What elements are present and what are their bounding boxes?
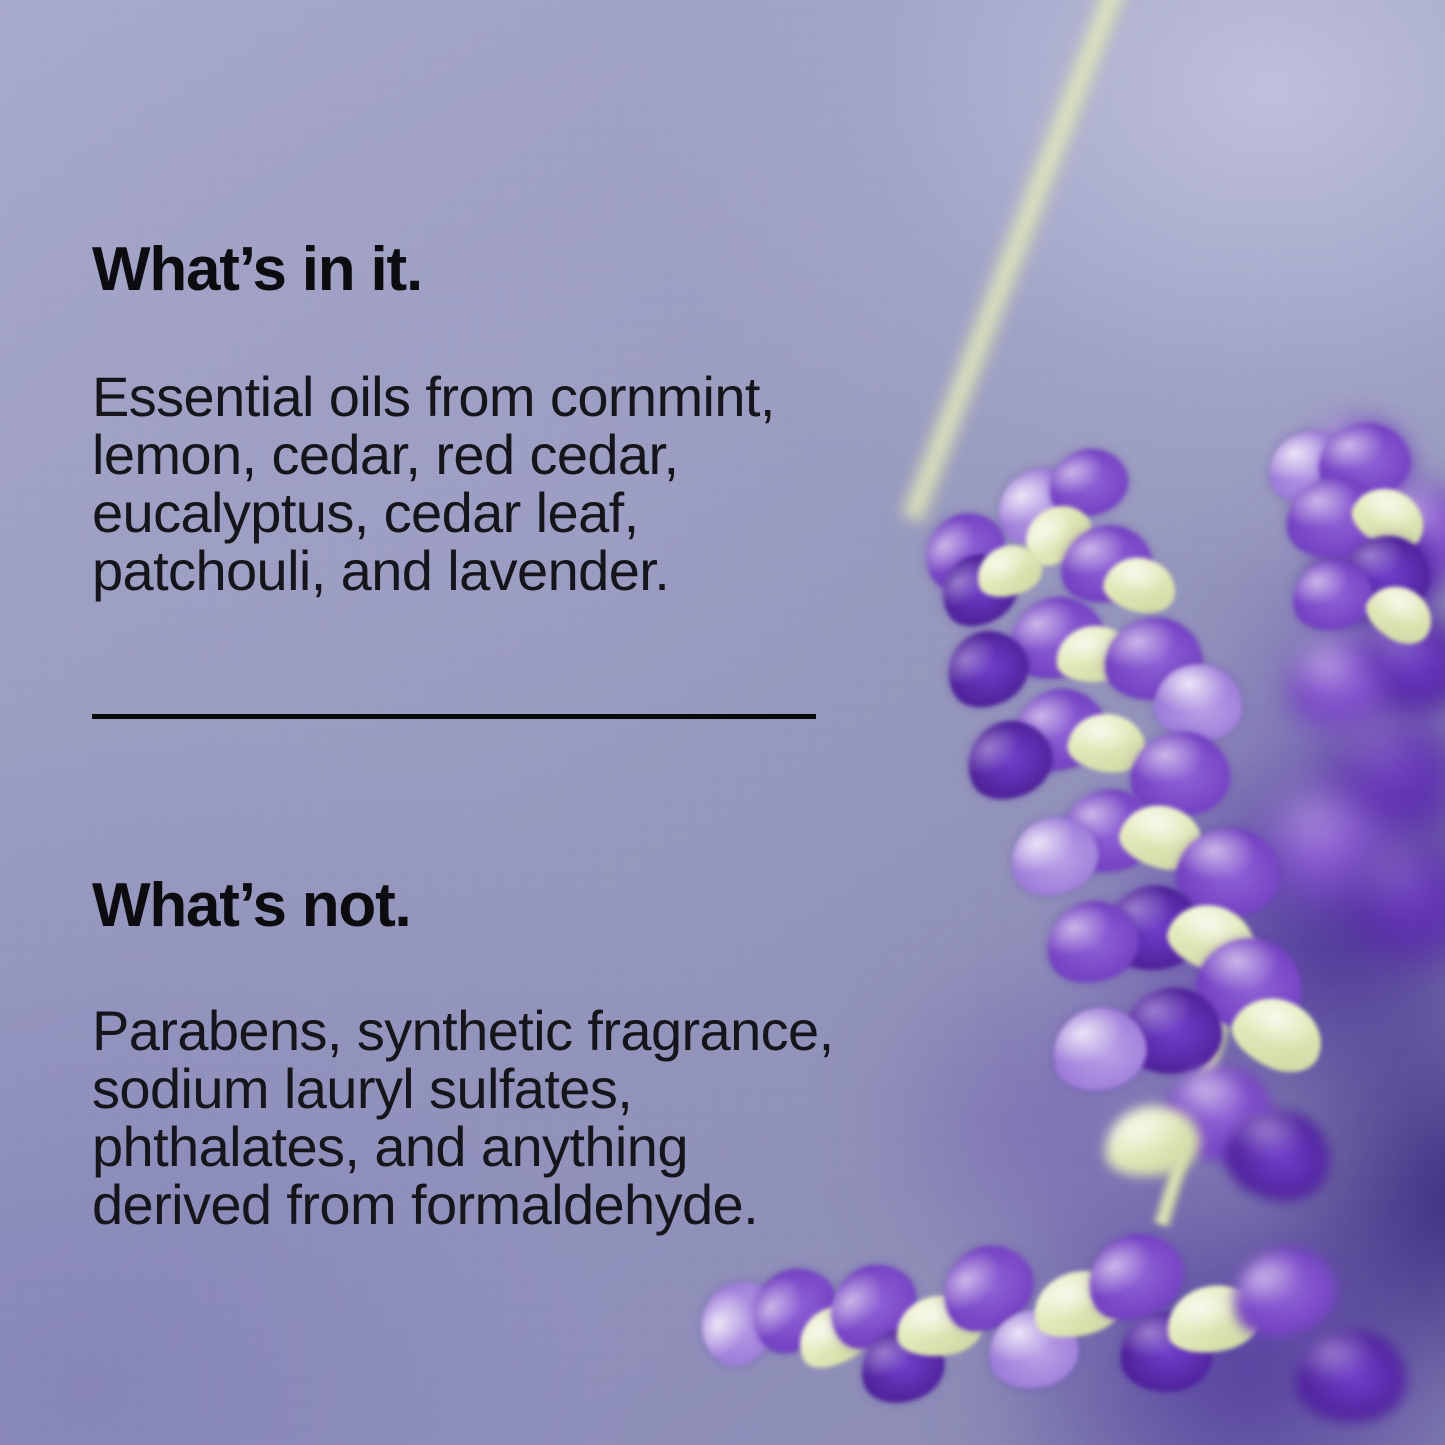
text-content: What’s in it. Essential oils from cornmi… <box>92 0 1052 1445</box>
whats-in-it-body: Essential oils from cornmint, lemon, ced… <box>92 368 775 600</box>
whats-in-it-heading: What’s in it. <box>92 239 422 301</box>
ingredient-panel-image: What’s in it. Essential oils from cornmi… <box>0 0 1445 1445</box>
whats-not-heading: What’s not. <box>92 875 411 937</box>
section-divider <box>92 714 816 719</box>
whats-not-body: Parabens, synthetic fragrance, sodium la… <box>92 1002 834 1234</box>
